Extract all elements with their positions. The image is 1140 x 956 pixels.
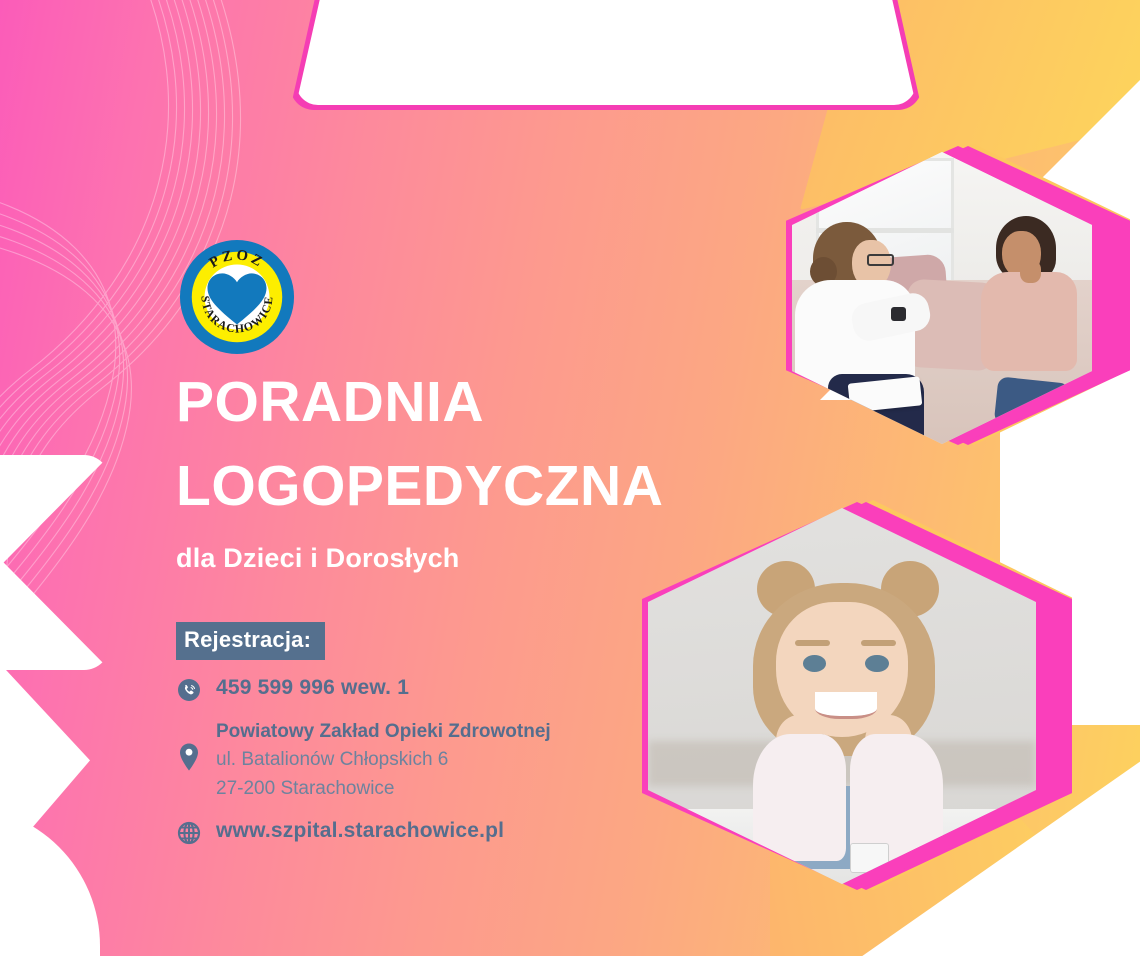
contact-block: 459 599 996 wew. 1 Powiatowy Zakład Opie… (176, 676, 796, 846)
therapy-session-photo (800, 140, 1130, 445)
page-title-line1: PORADNIA (176, 360, 796, 444)
poster-content: PORADNIA LOGOPEDYCZNA dla Dzieci i Doros… (176, 360, 796, 861)
city-postcode: 27-200 Starachowice (216, 775, 551, 804)
phone-number: 459 599 996 wew. 1 (216, 676, 409, 700)
website-url: www.szpital.starachowice.pl (216, 819, 504, 843)
contact-row-phone[interactable]: 459 599 996 wew. 1 (176, 676, 796, 702)
registration-badge: Rejestracja: (176, 622, 325, 660)
page-title-line2: LOGOPEDYCZNA (176, 444, 796, 528)
address-text: Powiatowy Zakład Opieki Zdrowotnej ul. B… (216, 718, 551, 804)
institution-name: Powiatowy Zakład Opieki Zdrowotnej (216, 718, 551, 747)
globe-icon (176, 819, 202, 845)
top-white-notch (296, 0, 916, 105)
contact-row-website[interactable]: www.szpital.starachowice.pl (176, 819, 796, 845)
page-subtitle: dla Dzieci i Dorosłych (176, 543, 796, 574)
contact-row-address[interactable]: Powiatowy Zakład Opieki Zdrowotnej ul. B… (176, 718, 796, 804)
map-pin-icon (176, 718, 202, 772)
street-address: ul. Batalionów Chłopskich 6 (216, 746, 551, 775)
poster-canvas: PZOZ STARACHOWICE PORADNIA LOGOPEDYCZNA … (0, 0, 1140, 956)
phone-call-icon (176, 676, 202, 702)
pzoz-starachowice-logo: PZOZ STARACHOWICE (178, 238, 296, 356)
